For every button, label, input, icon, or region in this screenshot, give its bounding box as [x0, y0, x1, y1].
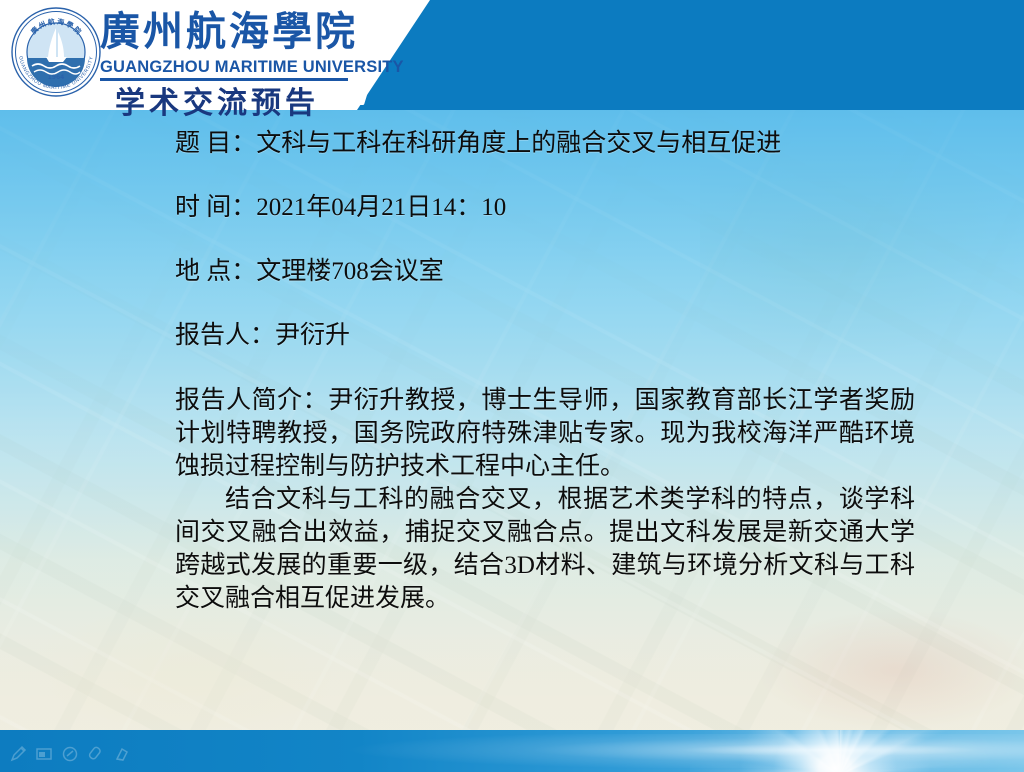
talk-title-line: 题 目：文科与工科在科研角度上的融合交叉与相互促进 — [175, 128, 915, 159]
university-name-english: GUANGZHOU MARITIME UNIVERSITY — [100, 58, 404, 77]
footer-band — [0, 730, 1024, 772]
svg-text:1964: 1964 — [48, 74, 65, 81]
slide-content: 题 目：文科与工科在科研角度上的融合交叉与相互促进 时 间：2021年04月21… — [175, 128, 915, 615]
talk-abstract: 结合文科与工科的融合交叉，根据艺术类学科的特点，谈学科间交叉融合出效益，捕捉交叉… — [175, 483, 915, 615]
talk-place-line: 地 点：文理楼708会议室 — [175, 256, 915, 287]
university-emblem: 1964 廣 州 航 海 學 院 GUANGZHOU MARITIME UNIV… — [10, 6, 102, 98]
presentation-slide: 1964 廣 州 航 海 學 院 GUANGZHOU MARITIME UNIV… — [0, 0, 1024, 772]
pointer-options-icon[interactable] — [60, 744, 80, 764]
slide-subtitle: 学术交流预告 — [115, 78, 319, 122]
talk-speaker-line: 报告人：尹衍升 — [175, 320, 915, 351]
highlighter-icon[interactable] — [86, 744, 106, 764]
speaker-biography: 报告人简介：尹衍升教授，博士生导师，国家教育部长江学者奖励计划特聘教授，国务院政… — [175, 384, 915, 483]
talk-time-line: 时 间：2021年04月21日14：10 — [175, 192, 915, 223]
university-name-chinese: 廣州航海學院 — [100, 6, 358, 58]
slide-icon[interactable] — [34, 744, 54, 764]
pen-icon[interactable] — [8, 744, 28, 764]
eraser-icon[interactable] — [112, 744, 132, 764]
sunburst-core — [740, 730, 930, 772]
annotation-toolbar[interactable] — [8, 744, 132, 764]
